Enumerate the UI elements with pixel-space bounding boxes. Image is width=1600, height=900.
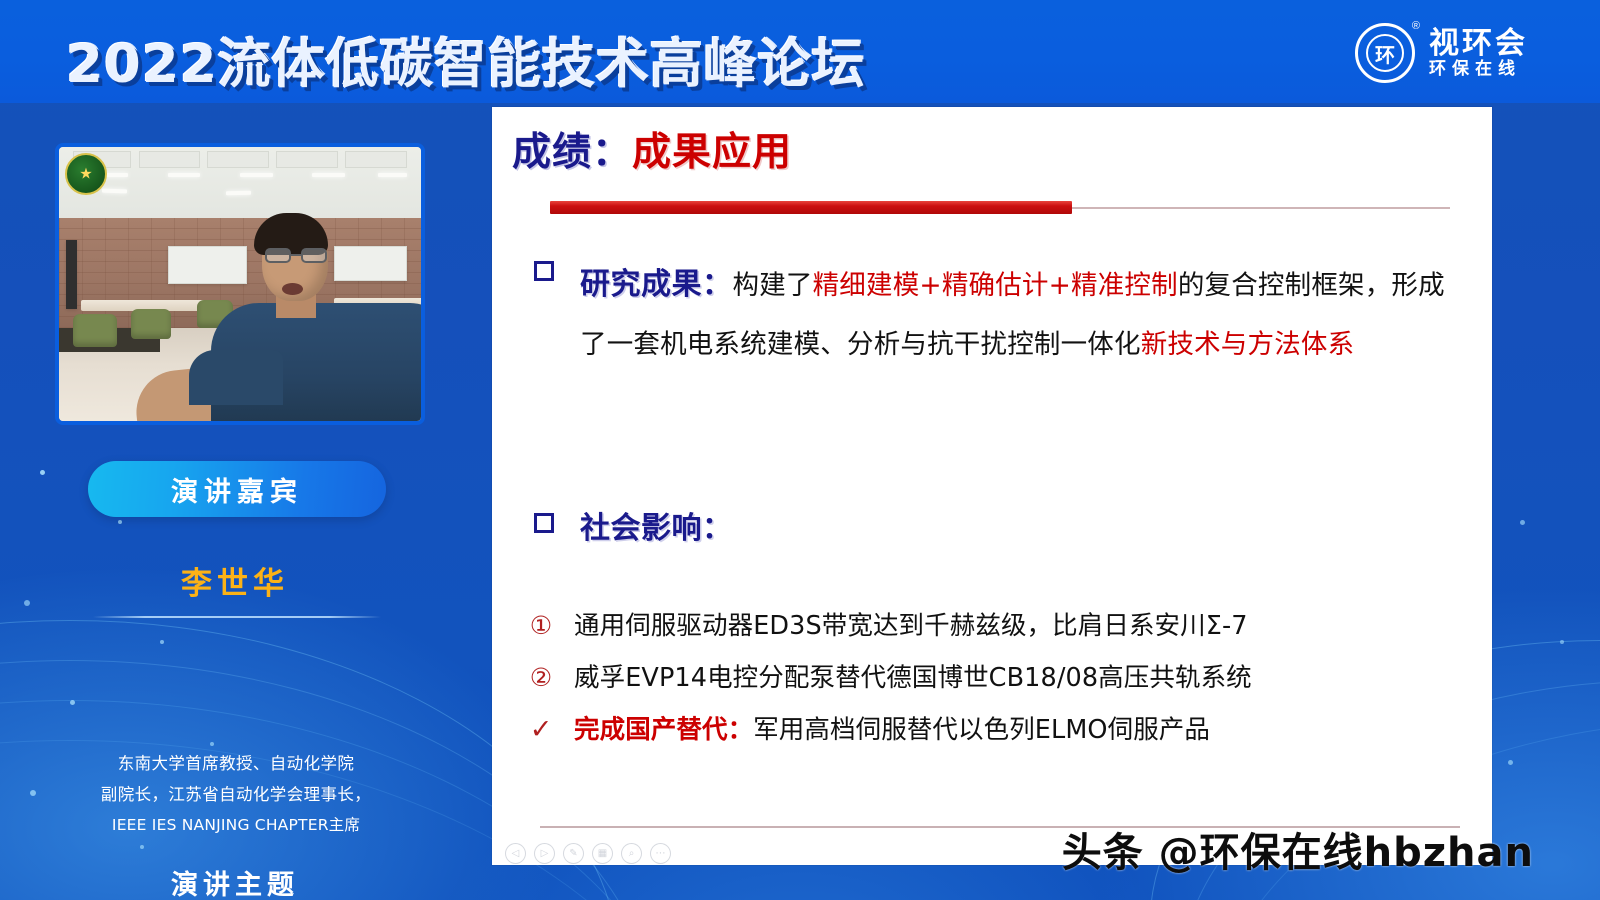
- divider-under-name: [93, 616, 381, 618]
- bullet-1-part-4: 新技术与方法体系: [1141, 329, 1355, 360]
- conference-title: 2022流体低碳智能技术高峰论坛: [66, 22, 866, 98]
- list-item: ② 威孚EVP14电控分配泵替代德国博世CB18/08高压共轨系统: [526, 659, 1466, 697]
- list-item: ① 通用伺服驱动器ED3S带宽达到千赫兹级，比肩日系安川Σ-7: [526, 607, 1466, 645]
- checkmark-icon: ✓: [526, 711, 556, 749]
- bullet-1-part-1: 构建了: [733, 270, 813, 301]
- webcam-whiteboard-right: [334, 246, 406, 282]
- list-item: ✓ 完成国产替代：军用高档伺服替代以色列ELMO伺服产品: [526, 711, 1466, 749]
- webcam-chair-2: [131, 309, 171, 339]
- circled-number-icon-1: ①: [526, 607, 556, 645]
- bullet-square-icon-1: [534, 261, 554, 281]
- slide-title-prefix: 成绩：: [512, 130, 632, 175]
- presentation-player-controls[interactable]: ◁ ▷ ✎ ▦ ⌕ ⋯: [505, 843, 671, 864]
- speaker-name: 李世华: [0, 558, 470, 603]
- list-item-3-body: 军用高档伺服替代以色列ELMO伺服产品: [753, 715, 1210, 745]
- speaker-bio: 东南大学首席教授、自动化学院 副院长，江苏省自动化学会理事长， IEEE IES…: [46, 748, 426, 841]
- registered-trademark-icon: ®: [1412, 20, 1420, 32]
- logo-brand-subtitle: 环保在线: [1429, 61, 1528, 78]
- webcam-person-sleeve: [189, 350, 283, 405]
- list-item-text-3: 完成国产替代：军用高档伺服替代以色列ELMO伺服产品: [574, 711, 1210, 749]
- slide-title: 成绩：成果应用: [512, 121, 792, 177]
- logo-emblem-icon: 环 ®: [1355, 23, 1415, 83]
- more-options-icon[interactable]: ⋯: [650, 843, 671, 864]
- speaker-bio-line-2: 副院长，江苏省自动化学会理事长，: [46, 779, 426, 810]
- bullet-1-part-2: 精细建模+精确估计+精准控制: [813, 270, 1178, 301]
- speaker-sidebar: ★ 演讲嘉宾 李世华 东南大学首席教授、自动化学院 副院长，江苏省自动化学会理事…: [0, 103, 470, 900]
- bullet-1-label: 研究成果：: [580, 267, 733, 302]
- presentation-slide[interactable]: 成绩：成果应用 研究成果：构建了精细建模+精确估计+精准控制的复合控制框架，形成…: [492, 107, 1492, 865]
- list-item-text-2: 威孚EVP14电控分配泵替代德国博世CB18/08高压共轨系统: [574, 659, 1252, 697]
- list-item-text-1: 通用伺服驱动器ED3S带宽达到千赫兹级，比肩日系安川Σ-7: [574, 607, 1248, 645]
- topic-heading: 演讲主题: [0, 863, 470, 900]
- circled-number-icon-2: ②: [526, 659, 556, 697]
- list-item-3-lead: 完成国产替代：: [574, 715, 753, 745]
- bullet-1-paragraph: 研究成果：构建了精细建模+精确估计+精准控制的复合控制框架，形成了一套机电系统建…: [580, 255, 1462, 374]
- webcam-chair-1: [73, 314, 116, 347]
- brand-logo: 环 ® 视环会 环保在线: [1355, 18, 1528, 88]
- impact-list: ① 通用伺服驱动器ED3S带宽达到千赫兹级，比肩日系安川Σ-7 ② 威孚EVP1…: [526, 607, 1466, 763]
- title-underline-thick: [550, 201, 1072, 214]
- presentation-screen: 2022流体低碳智能技术高峰论坛 环 ® 视环会 环保在线: [0, 0, 1600, 900]
- webcam-tv: [66, 240, 77, 309]
- university-seal-icon: ★: [65, 153, 107, 195]
- bullet-square-icon-2: [534, 513, 554, 533]
- webcam-person-mouth: [282, 283, 303, 295]
- webcam-ceiling: [59, 147, 421, 229]
- speaker-bio-line-3: IEEE IES NANJING CHAPTER主席: [46, 810, 426, 841]
- slides-grid-icon[interactable]: ▦: [592, 843, 613, 864]
- guest-badge-label: 演讲嘉宾: [171, 470, 303, 509]
- speaker-webcam-video[interactable]: ★: [55, 143, 425, 425]
- logo-brand-name: 视环会: [1429, 29, 1528, 59]
- zoom-icon[interactable]: ⌕: [621, 843, 642, 864]
- slide-title-highlight: 成果应用: [632, 130, 792, 175]
- previous-slide-icon[interactable]: ◁: [505, 843, 526, 864]
- webcam-whiteboard-left: [168, 246, 248, 284]
- conference-header: 2022流体低碳智能技术高峰论坛 环 ® 视环会 环保在线: [0, 0, 1600, 103]
- pen-icon[interactable]: ✎: [563, 843, 584, 864]
- speaker-bio-line-1: 东南大学首席教授、自动化学院: [46, 748, 426, 779]
- bullet-2-label: 社会影响：: [580, 503, 733, 547]
- watermark: 头条 @环保在线hbzhan: [1062, 820, 1534, 878]
- play-icon[interactable]: ▷: [534, 843, 555, 864]
- guest-badge: 演讲嘉宾: [88, 461, 386, 517]
- glasses-icon: [265, 248, 327, 263]
- logo-mark-glyph: 环: [1366, 34, 1404, 72]
